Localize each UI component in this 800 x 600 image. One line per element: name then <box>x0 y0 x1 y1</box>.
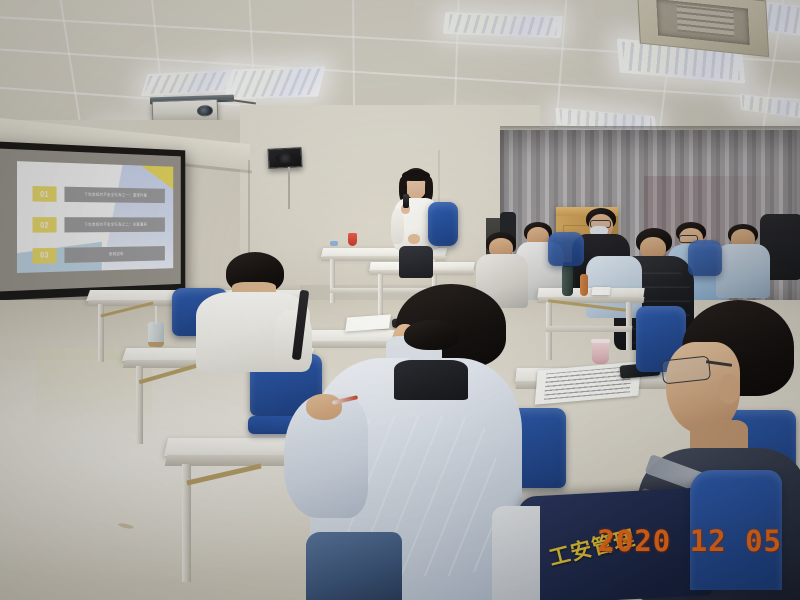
handout-text-lines <box>544 366 631 400</box>
chair-back <box>428 202 458 246</box>
chair-back <box>548 232 584 266</box>
attendee <box>394 320 472 400</box>
projector-lens <box>197 105 213 117</box>
slide-agenda-item: 02 下包商如何不安全行為之二：未戴護具 <box>32 217 164 233</box>
slide-item-text: 下包商如何不安全行為之二：未戴護具 <box>65 217 165 232</box>
presenter-hand <box>408 234 420 244</box>
slide-item-number: 03 <box>32 248 56 264</box>
orange-bottle <box>580 274 588 296</box>
ceiling-light-panel <box>443 12 563 38</box>
presentation-slide: 01 下包商如何不安全行為之一：違規作業 02 下包商如何不安全行為之二：未戴護… <box>17 161 173 273</box>
slide-item-text: 下包商如何不安全行為之一：違規作業 <box>65 187 165 203</box>
presenter-skirt <box>399 246 433 278</box>
cup-rim <box>591 339 610 343</box>
chair-back <box>688 240 722 276</box>
desk-leg <box>136 366 143 444</box>
red-paper-cup <box>348 233 357 246</box>
attendee <box>716 224 772 298</box>
camera-date-stamp: 2020 12 05 <box>597 524 782 558</box>
attendee-shirt <box>394 360 468 400</box>
slide-item-number: 02 <box>32 217 56 233</box>
wall-speaker <box>267 147 302 169</box>
green-insulated-bottle <box>562 265 573 296</box>
photograph: 01 下包商如何不安全行為之一：違規作業 02 下包商如何不安全行為之二：未戴護… <box>0 0 800 600</box>
ceiling-light-panel <box>224 66 325 100</box>
slide-agenda-item: 01 下包商如何不安全行為之一：違規作業 <box>32 186 164 203</box>
attendee-shirt <box>716 244 770 298</box>
jeans <box>306 532 402 600</box>
pink-paper-cup <box>592 340 609 364</box>
screen-surface: 01 下包商如何不安全行為之一：違規作業 02 下包商如何不安全行為之二：未戴護… <box>0 148 181 291</box>
attendee-hair <box>404 320 460 350</box>
attendee-hand <box>306 394 342 420</box>
slide-item-text: 案例說明 <box>65 246 165 263</box>
projection-screen: 01 下包商如何不安全行為之一：違規作業 02 下包商如何不安全行為之二：未戴護… <box>0 141 185 301</box>
ceiling-light-panel <box>141 70 234 97</box>
slide-item-number: 01 <box>32 186 56 202</box>
microphone <box>403 194 409 208</box>
blue-desk-item <box>330 241 338 246</box>
ceiling-light-panel <box>740 94 800 119</box>
glasses <box>661 356 711 385</box>
desk-shelf <box>546 326 633 332</box>
drink-liquid <box>148 342 164 347</box>
straw <box>155 306 157 324</box>
paper-note <box>591 287 610 295</box>
collar-shirt <box>492 506 540 600</box>
attendee-ear <box>718 374 740 404</box>
speaker-cable <box>288 167 290 209</box>
slide-agenda-list: 01 下包商如何不安全行為之一：違規作業 02 下包商如何不安全行為之二：未戴護… <box>32 186 164 257</box>
